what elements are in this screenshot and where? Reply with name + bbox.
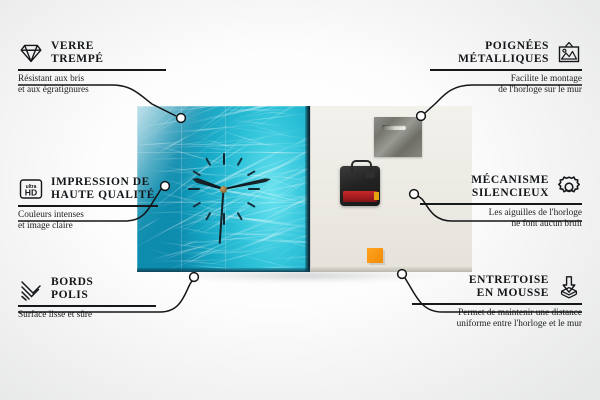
polished-edge-icon bbox=[18, 276, 44, 302]
battery bbox=[343, 191, 377, 202]
callout-title: VERRE TREMPÉ bbox=[51, 40, 104, 66]
panel-bottom-edge bbox=[137, 268, 310, 272]
callout-rule bbox=[430, 69, 582, 71]
clock-dial bbox=[137, 106, 310, 272]
callout-desc: Les aiguilles de l'horloge ne font aucun… bbox=[420, 208, 582, 231]
callout-rule bbox=[18, 69, 166, 71]
callout-mecanisme-silencieux[interactable]: MÉCANISME SILENCIEUX Les aiguilles de l'… bbox=[420, 174, 582, 231]
callout-rule bbox=[18, 205, 158, 207]
gear-icon bbox=[556, 174, 582, 200]
callout-desc: Facilite le montage de l'horloge sur le … bbox=[430, 74, 582, 97]
callout-entretoise-en-mousse[interactable]: ENTRETOISE EN MOUSSE Permet de maintenir… bbox=[412, 274, 582, 331]
metal-hanger-plate bbox=[374, 117, 422, 157]
foam-spacer-icon bbox=[556, 274, 582, 300]
callout-desc: Surface lisse et sûre bbox=[18, 310, 158, 322]
callout-impression-haute-qualite[interactable]: ultra HD IMPRESSION DE HAUTE QUALITÉ Cou… bbox=[18, 176, 160, 233]
movement-dial bbox=[366, 171, 375, 178]
foam-spacer-part bbox=[367, 248, 383, 263]
hanger-slot bbox=[382, 125, 406, 130]
callout-rule bbox=[420, 203, 582, 205]
diamond-icon bbox=[18, 40, 44, 66]
callout-desc: Résistant aux bris et aux égratignures bbox=[18, 74, 168, 97]
callout-bords-polis[interactable]: BORDS POLIS Surface lisse et sûre bbox=[18, 276, 158, 321]
callout-title: IMPRESSION DE HAUTE QUALITÉ bbox=[51, 176, 155, 202]
callout-header: BORDS POLIS bbox=[18, 276, 158, 302]
callout-poignees-metalliques[interactable]: POIGNÉES MÉTALLIQUES Facilite le montage… bbox=[430, 40, 582, 97]
quartz-movement-box bbox=[340, 166, 380, 206]
callout-rule bbox=[18, 305, 156, 307]
battery-positive-terminal bbox=[374, 192, 379, 200]
callout-desc: Couleurs intenses et image claire bbox=[18, 210, 160, 233]
callout-header: POIGNÉES MÉTALLIQUES bbox=[430, 40, 582, 66]
back-panel-bottom-edge bbox=[310, 267, 472, 272]
callout-header: ENTRETOISE EN MOUSSE bbox=[412, 274, 582, 300]
callout-title: MÉCANISME SILENCIEUX bbox=[471, 174, 549, 200]
callout-title: ENTRETOISE EN MOUSSE bbox=[469, 274, 549, 300]
infographic-canvas: VERRE TREMPÉ Résistant aux bris et aux é… bbox=[0, 0, 600, 400]
callout-header: ultra HD IMPRESSION DE HAUTE QUALITÉ bbox=[18, 176, 160, 202]
svg-text:HD: HD bbox=[25, 188, 37, 198]
callout-header: VERRE TREMPÉ bbox=[18, 40, 168, 66]
callout-title: BORDS POLIS bbox=[51, 276, 93, 302]
callout-title: POIGNÉES MÉTALLIQUES bbox=[458, 40, 549, 66]
callout-verre-trempe[interactable]: VERRE TREMPÉ Résistant aux bris et aux é… bbox=[18, 40, 168, 97]
picture-frame-hanger-icon bbox=[556, 40, 582, 66]
callout-desc: Permet de maintenir une distance uniform… bbox=[412, 308, 582, 331]
callout-rule bbox=[412, 303, 582, 305]
clock-center-cap bbox=[220, 186, 227, 193]
callout-header: MÉCANISME SILENCIEUX bbox=[420, 174, 582, 200]
ultra-hd-icon: ultra HD bbox=[18, 176, 44, 202]
clock-front-panel bbox=[137, 106, 310, 272]
